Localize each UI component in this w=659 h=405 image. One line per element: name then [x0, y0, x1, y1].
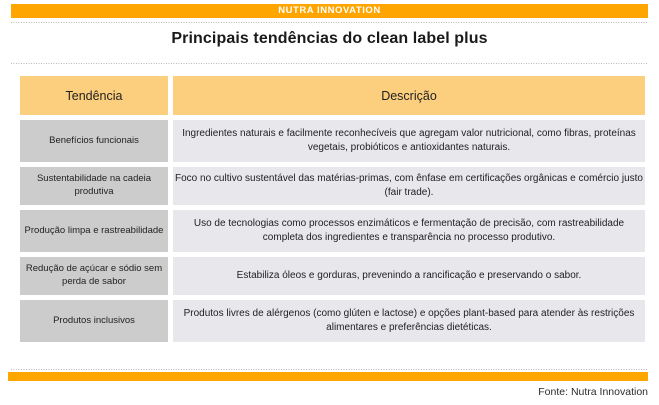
- divider-above-footer: [11, 369, 648, 370]
- table-row: Produção limpa e rastreabilidade Uso de …: [20, 210, 645, 252]
- trends-table: Tendência Descrição Benefícios funcionai…: [15, 71, 650, 347]
- source-note: Fonte: Nutra Innovation: [538, 386, 648, 398]
- table-row: Redução de açúcar e sódio sem perda de s…: [20, 257, 645, 295]
- column-header-description: Descrição: [173, 76, 645, 115]
- trend-name: Sustentabilidade na cadeia produtiva: [20, 167, 168, 205]
- footer-accent-bar: [8, 372, 648, 381]
- table-row: Produtos inclusivos Produtos livres de a…: [20, 300, 645, 342]
- trend-description: Produtos livres de alérgenos (como glúte…: [173, 300, 645, 342]
- brand-banner: NUTRA INNOVATION: [11, 4, 648, 18]
- trend-name: Redução de açúcar e sódio sem perda de s…: [20, 257, 168, 295]
- trend-name: Produção limpa e rastreabilidade: [20, 210, 168, 252]
- trend-description: Foco no cultivo sustentável das matérias…: [173, 167, 645, 205]
- table-header-row: Tendência Descrição: [20, 76, 645, 115]
- infographic-slide: NUTRA INNOVATION Principais tendências d…: [0, 0, 659, 405]
- column-header-trend: Tendência: [20, 76, 168, 115]
- trend-description: Estabiliza óleos e gorduras, prevenindo …: [173, 257, 645, 295]
- trend-description: Uso de tecnologias como processos enzimá…: [173, 210, 645, 252]
- table-row: Sustentabilidade na cadeia produtiva Foc…: [20, 167, 645, 205]
- divider-under-brand: [11, 22, 648, 23]
- trend-description: Ingredientes naturais e facilmente recon…: [173, 120, 645, 162]
- divider-under-title: [11, 63, 648, 64]
- trend-name: Produtos inclusivos: [20, 300, 168, 342]
- table-row: Benefícios funcionais Ingredientes natur…: [20, 120, 645, 162]
- page-title: Principais tendências do clean label plu…: [11, 30, 648, 48]
- trend-name: Benefícios funcionais: [20, 120, 168, 162]
